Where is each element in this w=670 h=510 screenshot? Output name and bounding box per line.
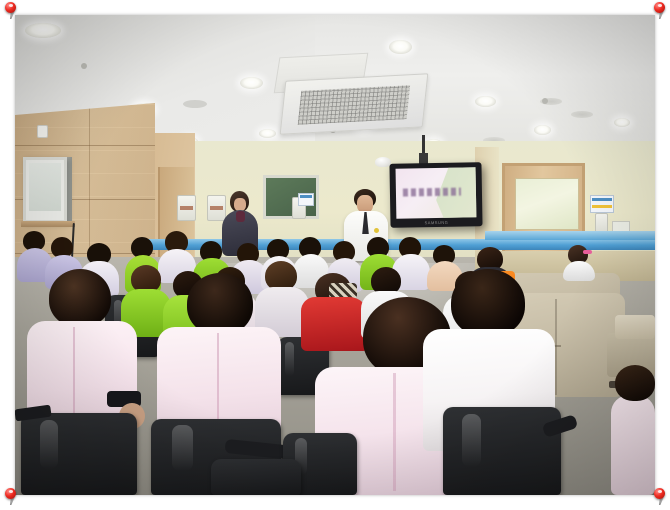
presenter-badge [374,228,379,233]
recessed-downlight [614,118,630,127]
turtleneck-collar [236,211,245,222]
wall-dispenser [595,213,608,233]
pinned-photo-frame: SAMSUNG [0,0,670,510]
sofa-seam [555,299,557,395]
seated-person-sofa-torso [563,261,595,281]
monitor-shelf [21,221,75,227]
monitor-screen [29,163,61,211]
sprinkler-head [81,63,87,69]
television-brand-label: SAMSUNG [425,220,449,225]
recessed-downlight [534,125,551,135]
wall-sensor [37,125,48,138]
air-vent [571,111,593,118]
recessed-downlight [259,129,276,138]
sprinkler-head [542,98,548,104]
wall-bumper-rail [485,231,655,240]
pushpin-icon [652,2,667,20]
wall-information-sign [590,195,614,213]
recessed-downlight [475,96,496,107]
audience-chair[interactable] [21,413,137,495]
pushpin-icon [652,488,667,506]
uniform-seam [393,373,396,491]
air-conditioner-grille [298,85,410,125]
door-glass-panel [515,178,579,230]
seated-audience [611,395,655,495]
pushpin-icon [3,2,18,20]
sofa-seat-cushion [615,315,655,339]
ceiling-cassette-air-conditioner [280,73,429,134]
wall-information-sign [298,193,314,206]
television-screen [396,167,477,218]
hair-clip [583,250,592,254]
recessed-downlight [240,77,263,89]
wall-mounted-monitor [23,157,67,223]
seated-audience [451,269,525,337]
wall-dispenser [177,195,196,221]
uniform-seam [73,327,75,427]
air-vent [183,100,207,108]
seated-audience [615,365,655,401]
seated-audience [187,273,253,335]
wall-dispenser [207,195,226,221]
pushpin-icon [3,488,18,506]
audience-chair[interactable] [443,407,561,495]
recessed-downlight [25,23,61,38]
seated-audience-red-jacket [301,297,369,351]
recessed-downlight [389,40,412,54]
audience-chair[interactable] [211,459,301,495]
hospital-seminar-room-photo: SAMSUNG [15,15,655,495]
seated-audience [49,269,111,327]
wall-mounted-television: SAMSUNG [389,162,482,228]
slide-title-text [403,188,461,197]
